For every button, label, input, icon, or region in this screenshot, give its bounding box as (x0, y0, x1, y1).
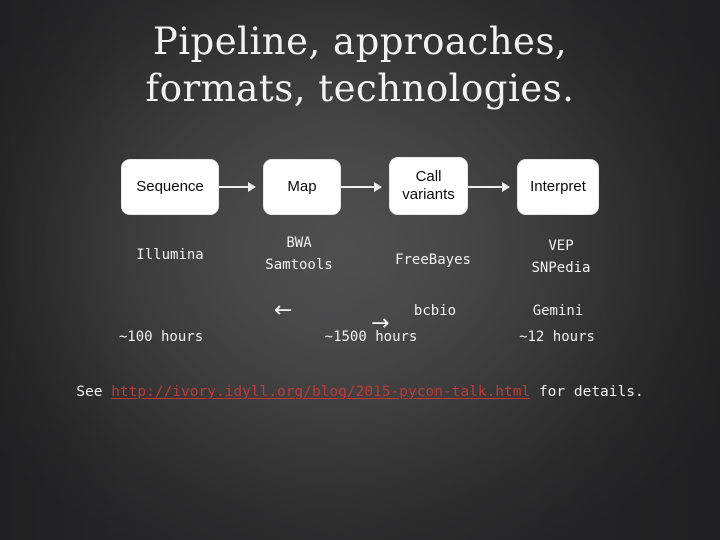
footer-suffix: for details. (530, 384, 644, 400)
timing-label-sequence: ~100 hours (102, 326, 220, 348)
arrow-connector-map-to-call (341, 186, 381, 188)
tool-label-illumina: Illumina (111, 244, 229, 266)
timing-label-interpret: ~12 hours (498, 326, 616, 348)
tool-label-freebayes: FreeBayes (374, 249, 492, 271)
footer-prefix: See (76, 384, 111, 400)
arrow-connector-sequence-to-map (219, 186, 255, 188)
reference-link[interactable]: http://ivory.idyll.org/blog/2015-pycon-t… (111, 384, 530, 400)
arrow-left-icon: ← (274, 300, 292, 322)
flow-box-map[interactable]: Map (263, 159, 341, 215)
arrow-right-icon: → (371, 313, 389, 335)
arrow-connector-call-to-interpret (468, 186, 509, 188)
tool-label-vep-snpedia: VEP SNPedia (502, 235, 620, 279)
flow-box-call-variants[interactable]: Call variants (389, 157, 468, 215)
slide-canvas: Pipeline, approaches, formats, technolog… (0, 0, 720, 540)
page-title: Pipeline, approaches, formats, technolog… (0, 18, 720, 112)
tool-label-bcbio: bcbio (376, 300, 494, 322)
flow-box-sequence[interactable]: Sequence (121, 159, 219, 215)
footer-reference-line: See http://ivory.idyll.org/blog/2015-pyc… (0, 382, 720, 402)
tool-label-gemini: Gemini (499, 300, 617, 322)
tool-label-bwa-samtools: BWA Samtools (240, 232, 358, 276)
flow-box-interpret[interactable]: Interpret (517, 159, 599, 215)
